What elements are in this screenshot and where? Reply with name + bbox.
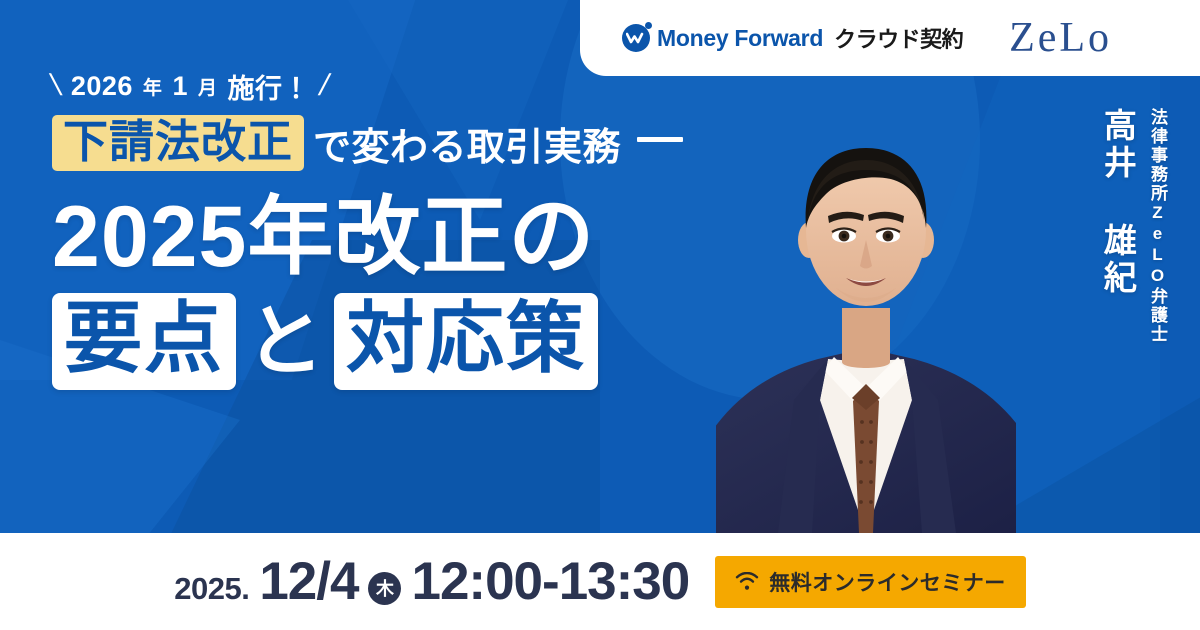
zelo-logo[interactable]: ZeLo	[1009, 17, 1112, 59]
eyebrow-nen: 年	[143, 73, 163, 100]
eyebrow-year: 2026	[71, 71, 133, 102]
em-dash-icon	[637, 137, 683, 142]
money-forward-brand: Money Forward	[657, 25, 823, 52]
event-day-of-week-badge: 木	[368, 572, 401, 605]
money-forward-product: クラウド契約	[834, 22, 963, 54]
slash-right-icon: /	[316, 69, 333, 103]
event-month-day: 12/4	[259, 551, 358, 612]
speaker-photo	[716, 70, 1016, 533]
subtitle-highlight: 下請法改正	[52, 115, 304, 171]
title-middle-to: と	[236, 302, 334, 382]
speaker-role: 法律事務所ZeLO弁護士	[1147, 108, 1166, 344]
speaker-caption: 高井 雄紀 法律事務所ZeLO弁護士	[1099, 108, 1166, 344]
hero-section: 高井 雄紀 法律事務所ZeLO弁護士 \ 2026年1月 施行！ / 下請法改正…	[0, 0, 1200, 533]
slash-left-icon: \	[48, 69, 65, 103]
speaker-name: 高井 雄紀	[1099, 108, 1135, 297]
webinar-banner: 高井 雄紀 法律事務所ZeLO弁護士 \ 2026年1月 施行！ / 下請法改正…	[0, 0, 1200, 630]
mf-accent-dot-icon	[645, 22, 652, 29]
mf-wave-glyph	[626, 31, 646, 45]
badge-label: 無料オンラインセミナー	[769, 567, 1006, 597]
money-forward-logo[interactable]: Money Forward クラウド契約	[622, 22, 963, 54]
title-line-1: 2025年改正の	[52, 193, 683, 282]
free-online-seminar-badge: 無料オンラインセミナー	[715, 556, 1026, 608]
title-box-taiousaku: 対応策	[334, 293, 598, 391]
headline-block: \ 2026年1月 施行！ / 下請法改正 で変わる取引実務 2025年改正の …	[52, 66, 683, 390]
speaker-portrait-illustration	[716, 70, 1016, 533]
event-year: 2025.	[174, 571, 249, 607]
money-forward-mark-icon	[622, 24, 650, 52]
event-time: 12:00-13:30	[411, 551, 689, 612]
footer-bar: 2025. 12/4 木 12:00-13:30 無料オンラインセミナー	[0, 533, 1200, 630]
eyebrow-month: 1	[172, 71, 188, 102]
subtitle-rest: で変わる取引実務	[313, 116, 621, 171]
event-datetime: 2025. 12/4 木 12:00-13:30	[174, 551, 689, 612]
logo-panel: Money Forward クラウド契約 ZeLo	[580, 0, 1200, 76]
eyebrow-tail: 施行！	[227, 67, 310, 106]
eyebrow-line: \ 2026年1月 施行！ /	[52, 66, 683, 106]
wifi-icon	[735, 572, 759, 591]
title-line-2: 要点 と 対応策	[52, 293, 683, 391]
eyebrow-gatsu: 月	[198, 73, 218, 100]
subtitle-line: 下請法改正 で変わる取引実務	[52, 115, 683, 171]
title-box-youten: 要点	[52, 293, 236, 391]
